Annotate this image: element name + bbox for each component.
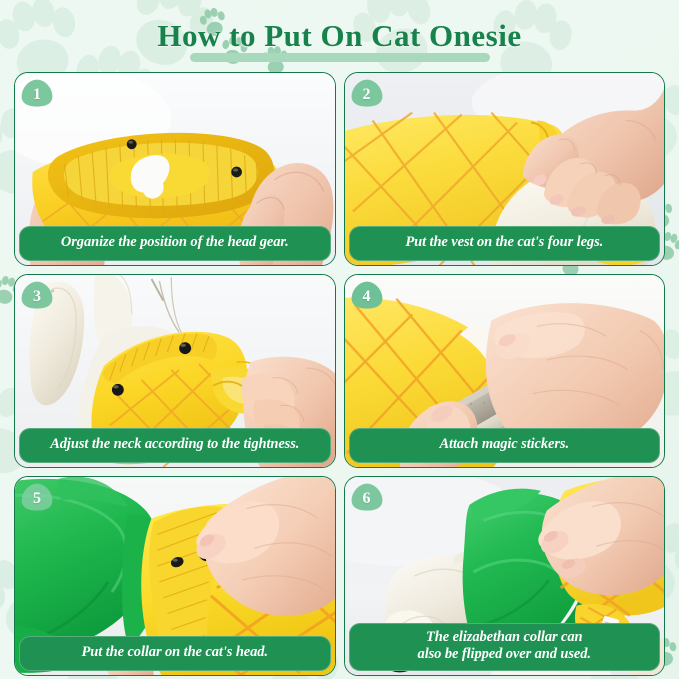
step-badge-3: 3: [20, 280, 54, 310]
step-caption-1: Organize the position of the head gear.: [19, 226, 331, 261]
step-caption-5: Put the collar on the cat's head.: [19, 636, 331, 671]
step-badge-4: 4: [350, 280, 384, 310]
step-number-6: 6: [350, 482, 384, 512]
step-number-2: 2: [350, 78, 384, 108]
step-panel-6: 6 The elizabethan collar can also be fli…: [344, 476, 666, 676]
step-caption-3: Adjust the neck according to the tightne…: [19, 428, 331, 463]
step-number-5: 5: [20, 482, 54, 512]
step-panel-5: 5 Put the collar on the cat's head.: [14, 476, 336, 676]
step-badge-6: 6: [350, 482, 384, 512]
step-caption-4: Attach magic stickers.: [349, 428, 661, 463]
steps-grid: 1 Organize the position of the head gear…: [8, 72, 671, 676]
page-title: How to Put On Cat Onesie: [157, 18, 521, 54]
step-badge-1: 1: [20, 78, 54, 108]
step-caption-6: The elizabethan collar can also be flipp…: [349, 623, 661, 671]
step-panel-3: 3 Adjust the neck according to the tight…: [14, 274, 336, 468]
step-number-3: 3: [20, 280, 54, 310]
step-badge-5: 5: [20, 482, 54, 512]
step-caption-6-line-1: The elizabethan collar can: [357, 629, 653, 647]
step-number-1: 1: [20, 78, 54, 108]
instruction-sheet: How to Put On Cat Onesie: [0, 0, 679, 679]
title-highlight-bar: [190, 53, 490, 62]
step-caption-2: Put the vest on the cat's four legs.: [349, 226, 661, 261]
step-caption-6-line-2: also be flipped over and used.: [357, 646, 653, 664]
title-area: How to Put On Cat Onesie: [8, 0, 671, 72]
step-badge-2: 2: [350, 78, 384, 108]
step-panel-1: 1 Organize the position of the head gear…: [14, 72, 336, 266]
step-panel-2: 2 Put the vest on the cat's four legs.: [344, 72, 666, 266]
step-number-4: 4: [350, 280, 384, 310]
step-panel-4: 4 Attach magic stickers.: [344, 274, 666, 468]
